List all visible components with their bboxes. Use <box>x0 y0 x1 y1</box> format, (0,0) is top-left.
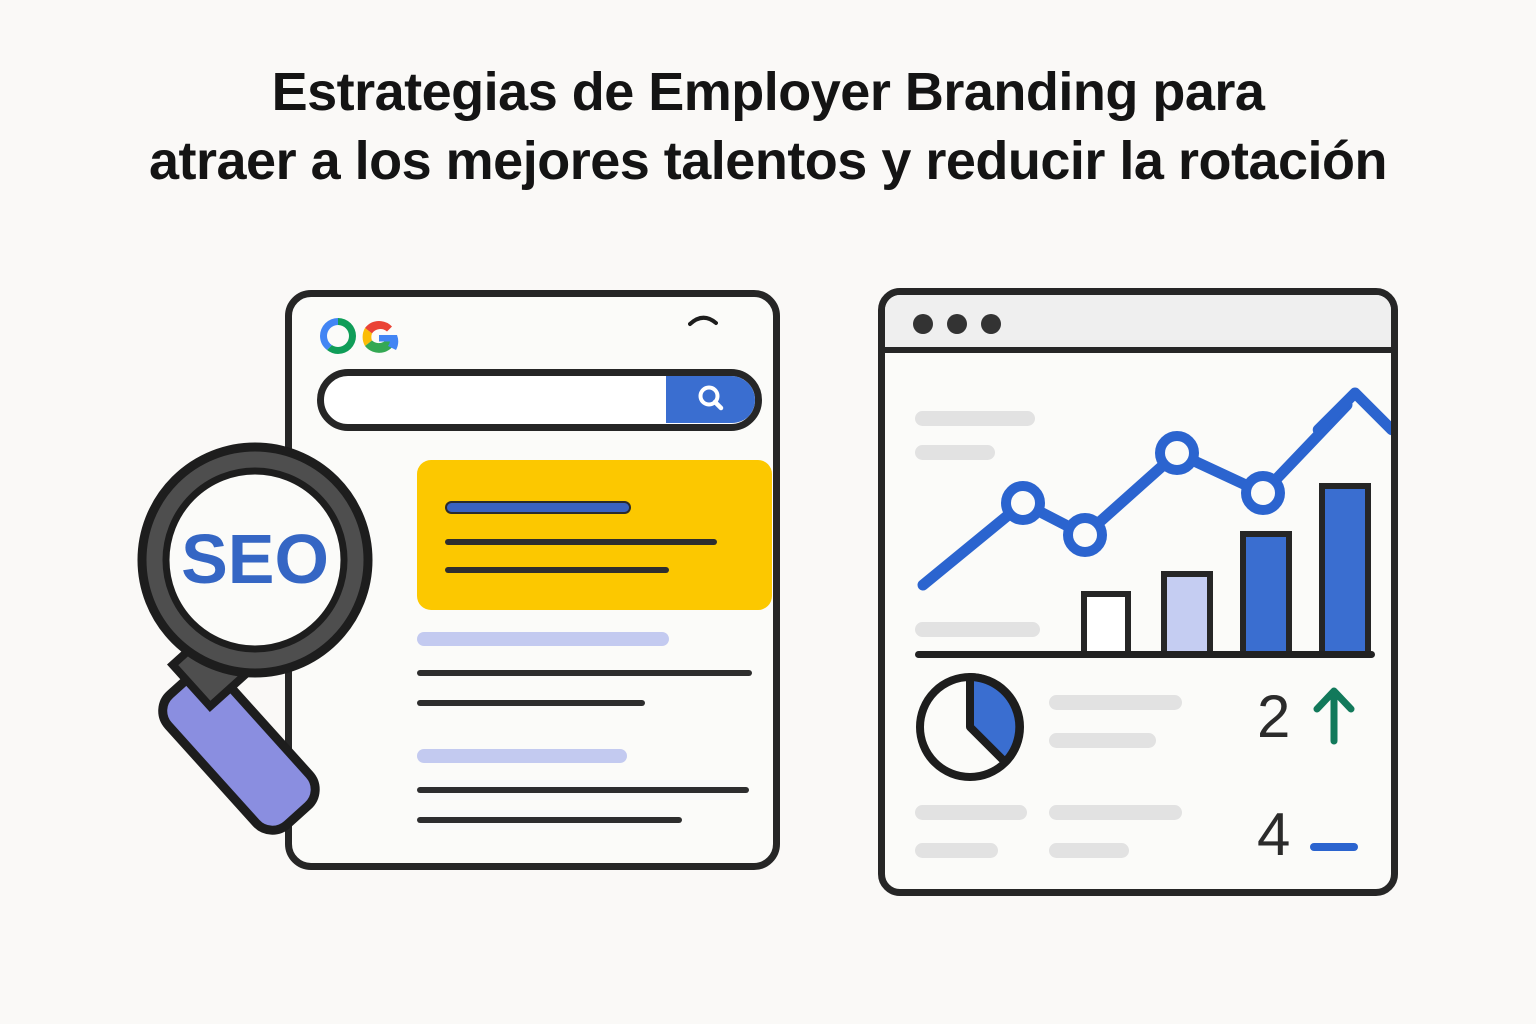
page-title: Estrategias de Employer Branding para at… <box>0 58 1536 196</box>
placeholder-bar <box>1049 695 1182 710</box>
placeholder-bar <box>915 411 1035 426</box>
result-title-bar <box>417 749 627 763</box>
magnifier-seo-label: SEO <box>181 520 329 598</box>
line-chart-marker <box>1160 436 1194 470</box>
featured-result-text-line <box>445 567 669 573</box>
window-dot-icon[interactable] <box>913 314 933 334</box>
analytics-dashboard-window: 2 4 <box>878 288 1398 896</box>
list-item[interactable] <box>417 749 757 834</box>
search-icon <box>694 382 728 416</box>
arrow-up-icon <box>1309 683 1359 750</box>
google-logo-letter-o <box>320 318 356 354</box>
result-title-bar <box>417 632 669 646</box>
bar-chart-bar <box>1240 531 1292 657</box>
google-logo-letter-g <box>363 321 399 353</box>
list-item[interactable] <box>417 632 757 717</box>
placeholder-bar <box>1049 805 1182 820</box>
result-text-line <box>417 817 682 823</box>
bar-chart-bar <box>1161 571 1213 657</box>
line-chart-marker <box>1246 476 1280 510</box>
google-logo <box>317 315 422 359</box>
placeholder-bar <box>915 445 995 460</box>
kpi-value: 4 <box>1257 805 1290 865</box>
featured-result-card[interactable] <box>417 460 772 610</box>
result-text-line <box>417 700 645 706</box>
chart-axis-line <box>915 651 1375 658</box>
magnifying-glass-seo: SEO <box>100 415 410 860</box>
placeholder-bar <box>915 805 1027 820</box>
window-dot-icon[interactable] <box>981 314 1001 334</box>
line-chart-marker <box>1006 486 1040 520</box>
featured-result-title-bar <box>445 501 631 514</box>
kpi-value: 2 <box>1257 687 1290 747</box>
featured-result-text-line <box>445 539 717 545</box>
placeholder-bar <box>1049 733 1156 748</box>
window-dot-icon[interactable] <box>947 314 967 334</box>
pie-chart <box>910 667 1030 787</box>
line-chart-marker <box>1068 518 1102 552</box>
window-titlebar <box>885 295 1391 353</box>
magnifier-handle <box>154 661 325 839</box>
search-button[interactable] <box>666 375 756 423</box>
line-chart-arrow-head <box>1318 393 1392 467</box>
result-text-line <box>417 670 752 676</box>
illustration-canvas: Estrategias de Employer Branding para at… <box>0 0 1536 1024</box>
placeholder-bar <box>915 843 998 858</box>
result-text-line <box>417 787 749 793</box>
placeholder-bar <box>1049 843 1129 858</box>
bar-chart-bar <box>1081 591 1131 657</box>
page-title-line-1: Estrategias de Employer Branding para <box>0 58 1536 127</box>
dash-icon <box>1310 843 1358 851</box>
page-title-line-2: atraer a los mejores talentos y reducir … <box>0 127 1536 196</box>
arc-notch-icon <box>688 311 718 327</box>
placeholder-bar <box>915 622 1040 637</box>
bar-chart-bar <box>1319 483 1371 657</box>
